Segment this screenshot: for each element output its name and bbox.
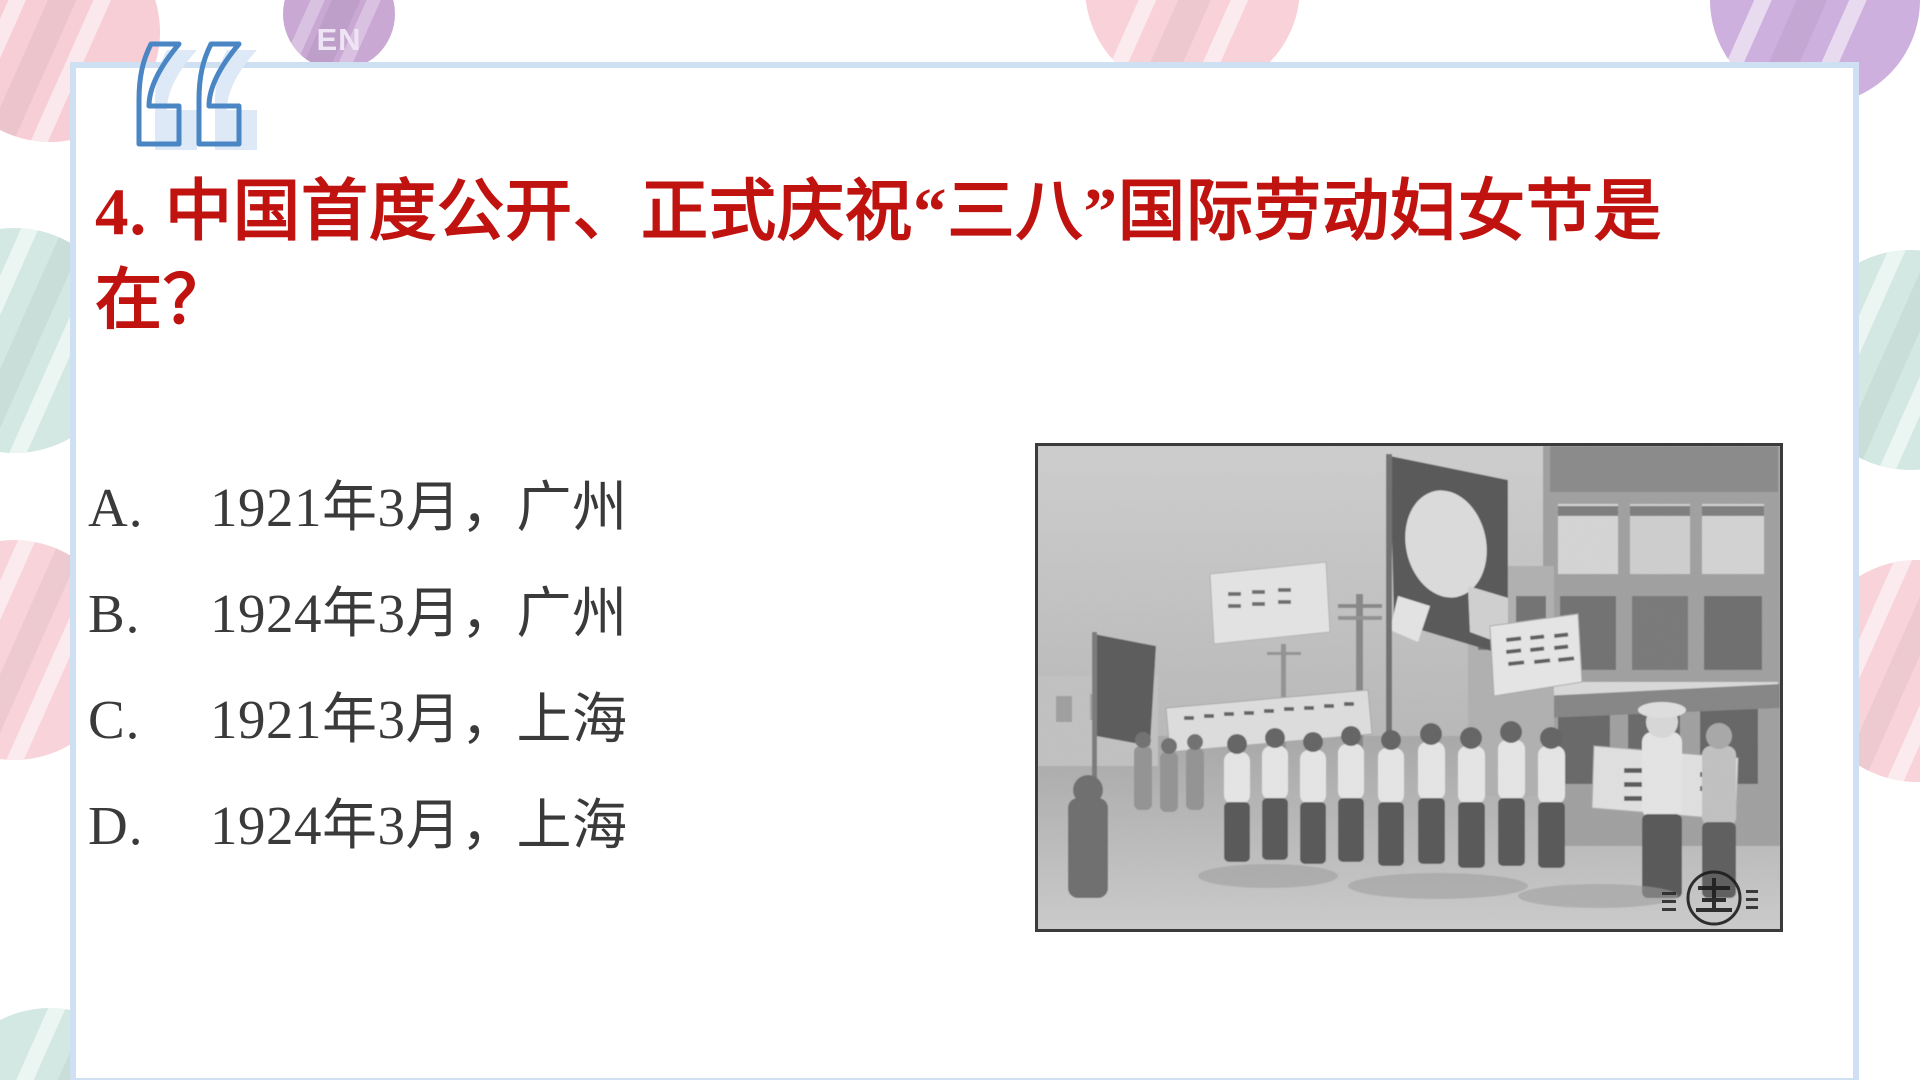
question-title: 4. 中国首度公开、正式庆祝“三八”国际劳动妇女节是在？ <box>95 168 1795 346</box>
historical-womens-day-parade-photo <box>1035 443 1783 932</box>
answer-option-d-label: D. <box>88 798 210 853</box>
answer-option-a-text: 1921年3月，广州 <box>210 480 628 535</box>
answer-options-list: A. 1921年3月，广州 B. 1924年3月，广州 C. 1921年3月，上… <box>88 480 918 904</box>
slide-content: 4. 中国首度公开、正式庆祝“三八”国际劳动妇女节是在？ A. 1921年3月，… <box>0 0 1920 1080</box>
answer-option-d-text: 1924年3月，上海 <box>210 798 628 853</box>
answer-option-c[interactable]: C. 1921年3月，上海 <box>88 692 918 798</box>
answer-option-d[interactable]: D. 1924年3月，上海 <box>88 798 918 904</box>
answer-option-a[interactable]: A. 1921年3月，广州 <box>88 480 918 586</box>
answer-option-c-label: C. <box>88 692 210 747</box>
answer-option-b-label: B. <box>88 586 210 641</box>
answer-option-b-text: 1924年3月，广州 <box>210 586 628 641</box>
answer-option-c-text: 1921年3月，上海 <box>210 692 628 747</box>
answer-option-a-label: A. <box>88 480 210 535</box>
answer-option-b[interactable]: B. 1924年3月，广州 <box>88 586 918 692</box>
